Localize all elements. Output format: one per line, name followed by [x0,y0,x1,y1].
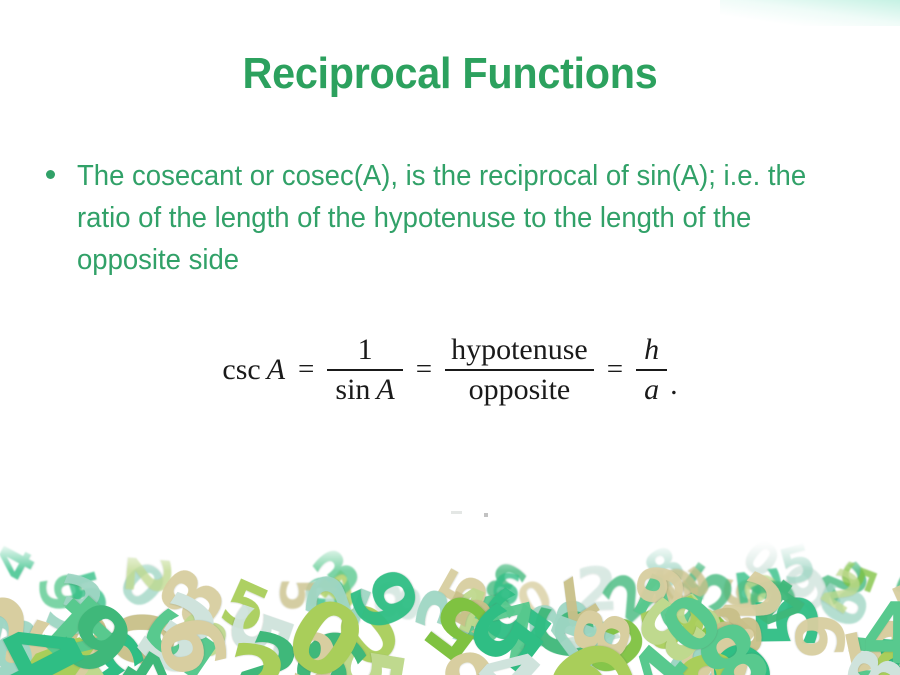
page-title: Reciprocal Functions [27,50,873,98]
formula-trailing-period: . [670,368,678,402]
formula-equals-2: = [416,355,432,384]
formula-fraction-3: h a [636,333,667,406]
bullet-dot-icon [46,170,55,179]
bullet-text: The cosecant or cosec(A), is the recipro… [77,155,809,281]
slide: Reciprocal Functions The cosecant or cos… [0,0,900,675]
formula-csc-label: csc [222,353,260,386]
formula-frac1-den-arg: A [376,373,394,406]
footer-photo-foam-numbers: 4883923506050590462920426526932530855023… [0,525,900,675]
formula-fraction-1: 1 sinA [327,333,402,406]
math-formula: cscA = 1 sinA = hypotenuse opposite = h … [0,333,900,406]
formula-frac2-denominator: opposite [463,371,577,407]
image-artifact-speck [484,513,488,517]
corner-tint-decoration [720,0,900,26]
list-item: The cosecant or cosec(A), is the recipro… [46,155,836,281]
formula-equals-3: = [607,355,623,384]
formula-fraction-2: hypotenuse opposite [445,333,594,406]
formula-equals-1: = [298,355,314,384]
formula-frac1-den-func: sin [335,373,370,406]
formula-csc-arg: A [267,353,285,386]
formula-frac1-denominator: sinA [327,371,402,407]
body-content: The cosecant or cosec(A), is the recipro… [46,155,836,281]
image-artifact-smudge [451,511,462,514]
formula-lhs: cscA [222,353,285,387]
formula-frac1-numerator: 1 [350,333,381,369]
formula-frac3-numerator: h [636,333,667,369]
formula-frac2-numerator: hypotenuse [445,333,594,369]
formula-frac3-denominator: a [636,371,667,407]
